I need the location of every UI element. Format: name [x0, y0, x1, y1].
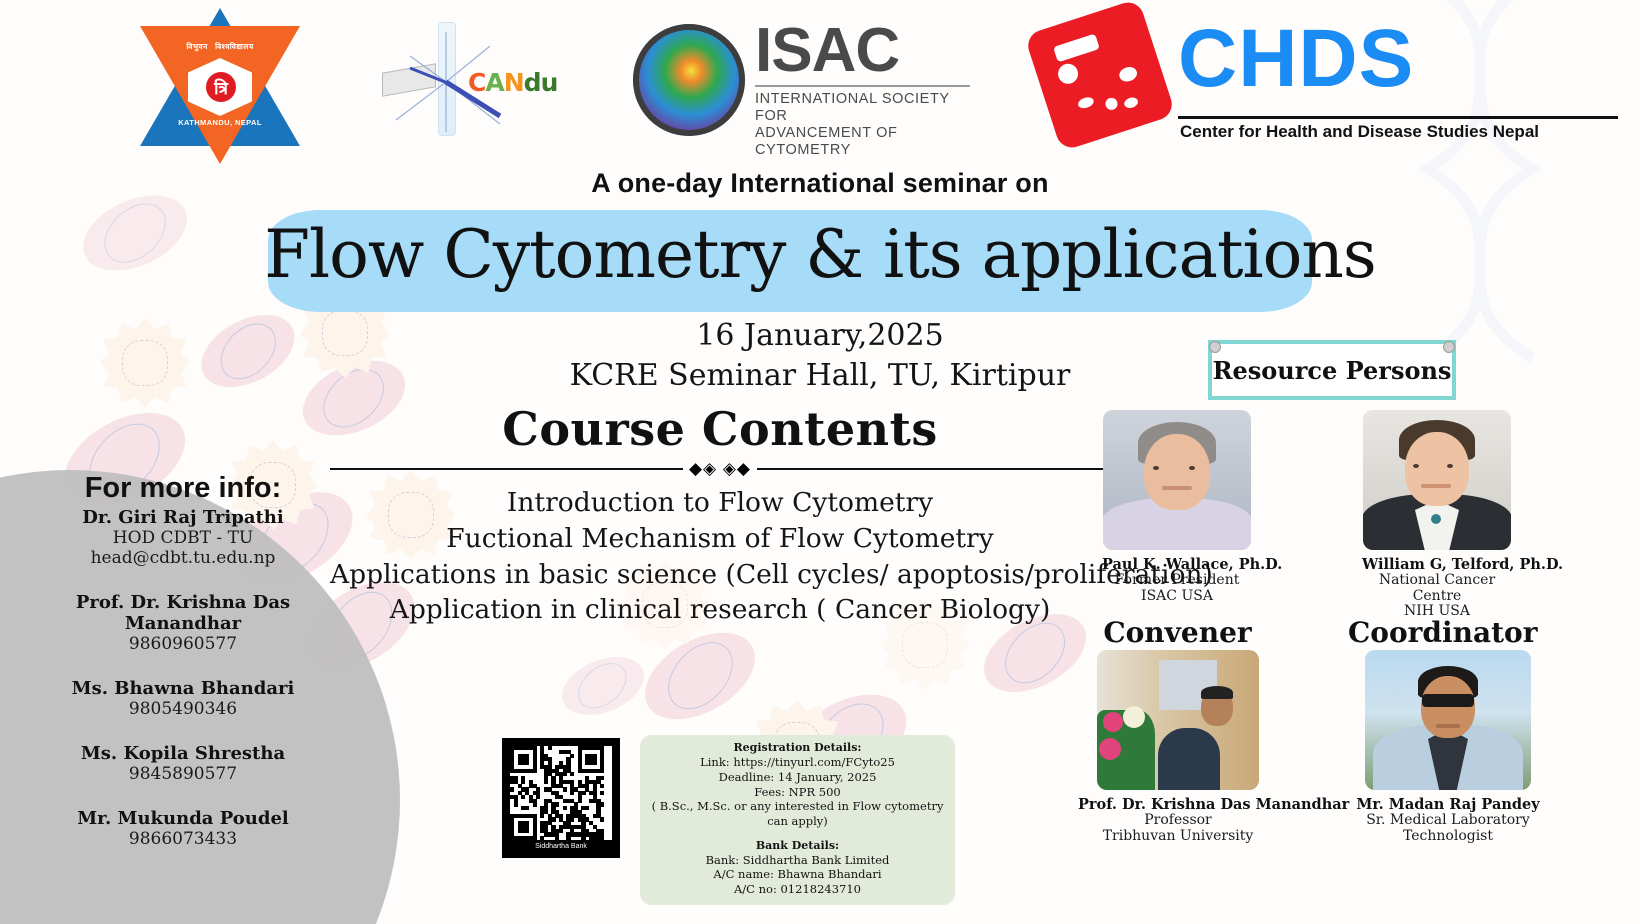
tribhuvan-university-logo: त्रि विभुवन विश्वविद्यालय KATHMANDU, NEP…	[140, 6, 315, 166]
divider-ornament: ◆◈ ◈◆	[683, 460, 757, 477]
bank-account-number: A/C no: 01218243710	[648, 882, 947, 897]
registration-link[interactable]: Link: https://tinyurl.com/FCyto25	[648, 755, 947, 770]
page-title: Flow Cytometry & its applications	[0, 216, 1640, 293]
person-affiliation-line1: Sr. Medical Laboratory Technologist	[1348, 813, 1548, 844]
chds-acronym: CHDS	[1178, 20, 1414, 98]
cell-shape	[630, 615, 770, 737]
contact-name: Ms. Kopila Shrestha	[18, 743, 348, 764]
portrait-william-telford	[1363, 410, 1511, 550]
resource-person-card: Prof. Dr. Krishna Das Manandhar Professo…	[1078, 650, 1278, 844]
qr-caption: Siddhartha Bank	[510, 840, 612, 850]
contact-person: Dr. Giri Raj Tripathi HOD CDBT - TU head…	[18, 507, 348, 568]
contact-name: Dr. Giri Raj Tripathi	[18, 507, 348, 528]
resource-persons-banner: Resource Persons	[1208, 340, 1456, 400]
portrait-krishna-manandhar	[1097, 650, 1259, 790]
tu-monogram: त्रि	[206, 72, 236, 102]
resource-person-card: Mr. Madan Raj Pandey Sr. Medical Laborat…	[1348, 650, 1548, 844]
contact-name: Prof. Dr. Krishna Das Manandhar	[18, 592, 348, 634]
contact-person: Prof. Dr. Krishna Das Manandhar 98609605…	[18, 592, 348, 654]
contact-phone: 9845890577	[18, 764, 348, 784]
contact-role: HOD CDBT - TU	[18, 528, 348, 548]
chds-tagline: Center for Health and Disease Studies Ne…	[1180, 122, 1539, 142]
contact-person: Mr. Mukunda Poudel 9866073433	[18, 808, 348, 849]
person-name: William G, Telford, Ph.D.	[1362, 556, 1512, 573]
resource-person-card: Paul K. Wallace, Ph.D. Former President …	[1102, 410, 1252, 604]
seminar-kicker: A one-day International seminar on	[0, 168, 1640, 199]
isac-acronym: ISAC	[755, 20, 970, 82]
person-affiliation-line1: Professor	[1078, 813, 1278, 829]
contact-heading: For more info:	[18, 472, 348, 505]
isac-line2: ADVANCEMENT OF CYTOMETRY	[755, 125, 970, 159]
person-affiliation-line1: Former President	[1102, 573, 1252, 589]
course-contents-heading: Course Contents	[330, 402, 1110, 456]
person-name: Prof. Dr. Krishna Das Manandhar	[1078, 796, 1278, 813]
bank-details-title: Bank Details:	[648, 839, 947, 853]
registration-details-panel: Registration Details: Link: https://tiny…	[640, 735, 955, 905]
contact-person: Ms. Bhawna Bhandari 9805490346	[18, 678, 348, 719]
qr-matrix	[510, 746, 612, 840]
course-contents-section: Course Contents ◆◈ ◈◆ Introduction to Fl…	[330, 402, 1110, 630]
person-name: Paul K. Wallace, Ph.D.	[1102, 556, 1252, 573]
contact-person: Ms. Kopila Shrestha 9845890577	[18, 743, 348, 784]
person-name: Mr. Madan Raj Pandey	[1348, 796, 1548, 813]
registration-qr-code[interactable]: Siddhartha Bank	[502, 738, 620, 858]
isac-line1: INTERNATIONAL SOCIETY FOR	[755, 91, 970, 125]
coordinator-role-label: Coordinator	[1348, 616, 1528, 649]
contact-name: Mr. Mukunda Poudel	[18, 808, 348, 829]
chds-logo: CHDS Center for Health and Disease Studi…	[1040, 6, 1630, 158]
registration-title: Registration Details:	[648, 741, 947, 755]
isac-logo: ISAC INTERNATIONAL SOCIETY FOR ADVANCEME…	[625, 12, 970, 150]
course-item: Application in clinical research ( Cance…	[330, 594, 1110, 626]
registration-deadline: Deadline: 14 January, 2025	[648, 770, 947, 785]
bank-name: Bank: Siddhartha Bank Limited	[648, 853, 947, 868]
contact-email[interactable]: head@cdbt.tu.edu.np	[18, 548, 348, 568]
contact-phone: 9805490346	[18, 699, 348, 719]
contact-phone: 9860960577	[18, 634, 348, 654]
contact-name: Ms. Bhawna Bhandari	[18, 678, 348, 699]
registration-fees: Fees: NPR 500	[648, 785, 947, 800]
resource-person-card: William G, Telford, Ph.D. National Cance…	[1362, 410, 1512, 620]
portrait-madan-pandey	[1365, 650, 1531, 790]
isac-cell-icon	[633, 24, 745, 136]
chds-microscope-icon	[1024, 0, 1176, 152]
tu-top-text: विभुवन विश्वविद्यालय	[140, 42, 300, 52]
candu-logo: CANdu	[380, 20, 550, 140]
logo-row: त्रि विभुवन विश्वविद्यालय KATHMANDU, NEP…	[0, 0, 1640, 165]
portrait-paul-wallace	[1103, 410, 1251, 550]
resource-persons-label: Resource Persons	[1213, 356, 1452, 385]
person-affiliation-line2: Tribhuvan University	[1078, 829, 1278, 845]
candu-wordmark: CANdu	[468, 68, 557, 97]
contact-phone: 9866073433	[18, 829, 348, 849]
convener-role-label: Convener	[1090, 616, 1265, 649]
person-affiliation-line1: National Cancer Centre	[1362, 573, 1512, 604]
seminar-poster: त्रि विभुवन विश्वविद्यालय KATHMANDU, NEP…	[0, 0, 1640, 924]
cell-shape	[553, 646, 652, 726]
course-item: Fuctional Mechanism of Flow Cytometry	[330, 523, 1110, 555]
contact-info-panel: For more info: Dr. Giri Raj Tripathi HOD…	[18, 472, 348, 849]
ornamental-divider: ◆◈ ◈◆	[330, 460, 1110, 477]
course-item: Introduction to Flow Cytometry	[330, 487, 1110, 519]
person-affiliation-line2: ISAC USA	[1102, 589, 1252, 605]
bank-account-name: A/C name: Bhawna Bhandari	[648, 867, 947, 882]
registration-eligibility: ( B.Sc., M.Sc. or any interested in Flow…	[648, 799, 947, 828]
course-item: Applications in basic science (Cell cycl…	[330, 559, 1110, 591]
tu-bottom-text: KATHMANDU, NEPAL	[140, 118, 300, 127]
